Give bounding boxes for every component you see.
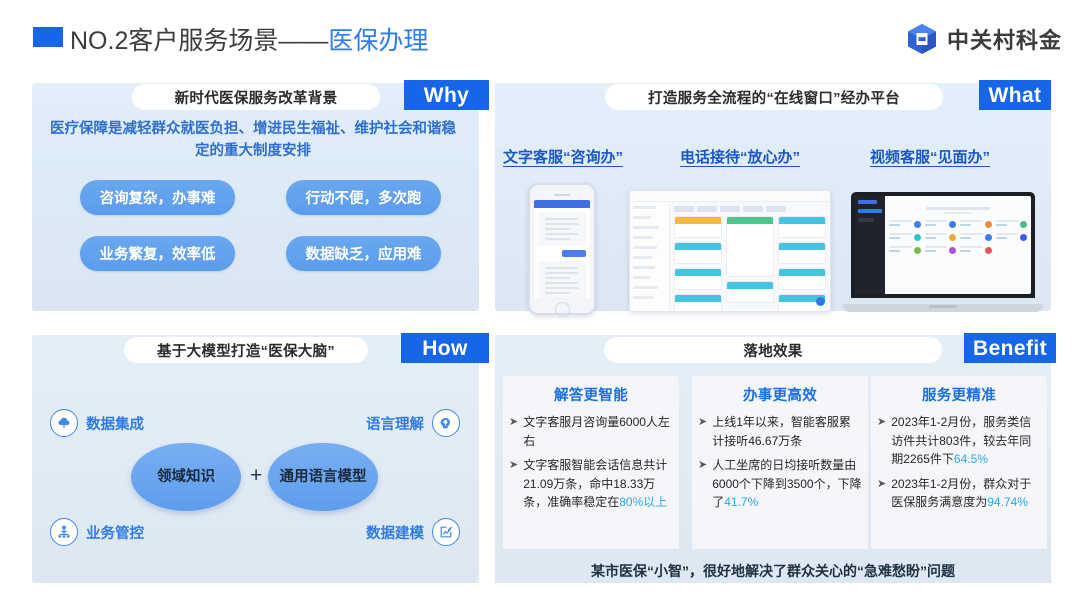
chart-edit-icon: [432, 518, 460, 546]
flow-node: [674, 294, 722, 312]
flow-node: [674, 268, 722, 290]
laptop-trackpad-notch: [929, 305, 957, 308]
why-capsule-1: 咨询复杂，办事难: [80, 180, 235, 215]
bullet-text: 文字客服月咨询量6000人左右: [523, 413, 673, 450]
dashboard-body: [630, 202, 830, 312]
flow-node: [726, 216, 774, 277]
laptop-sidebar: [855, 196, 885, 294]
why-lead-text: 医疗保障是减轻群众就医负担、增进民生福祉、维护社会和谐稳定的重大制度安排: [48, 118, 458, 162]
phone-message-in-2: [538, 261, 586, 298]
phone-speaker-icon: [554, 194, 570, 196]
brand-name: 中关村科金: [947, 23, 1062, 55]
why-capsule-3: 业务繁复，效率低: [80, 236, 235, 271]
bullet-arrow-icon: ➤: [509, 413, 518, 450]
slide-root: NO.2客户服务场景——医保办理 中关村科金 新时代医保服务改革背景 Why 医…: [0, 0, 1080, 608]
laptop-portal-mockup: [843, 192, 1043, 312]
how-node-data-modeling: 数据建模: [366, 518, 460, 546]
page-title-main: NO.2客户服务场景——: [70, 27, 328, 55]
cube-logo-icon: [905, 22, 939, 56]
benefit-bullet: ➤2023年1-2月份，群众对于医保服务满意度为94.74%: [877, 475, 1041, 512]
phone-message-in-1: [538, 212, 586, 246]
brand-logo: 中关村科金: [905, 22, 1062, 56]
bullet-highlight-value: 94.74%: [987, 495, 1028, 509]
what-link-text-service[interactable]: 文字客服“咨询办”: [503, 146, 623, 167]
phone-message-out: [562, 250, 586, 257]
dashboard-canvas: [670, 202, 830, 312]
benefit-bullet: ➤人工坐席的日均接听数量由6000个下降到3500个，下降了41.7%: [698, 456, 862, 512]
benefit-card-title: 办事更高效: [698, 384, 862, 405]
how-pill-heading: 基于大模型打造“医保大脑”: [124, 337, 368, 363]
bullet-text-run: 上线1年以来，智能客服累计接听46.67万条: [712, 415, 851, 448]
bullet-arrow-icon: ➤: [877, 475, 886, 512]
why-badge: Why: [404, 80, 489, 110]
flow-node: [674, 216, 722, 238]
org-chart-icon: [50, 518, 78, 546]
bullet-text: 2023年1-2月份，服务类信访件共计803件，较去年同期2265件下64.5%: [891, 413, 1041, 469]
bullet-text-run: 文字客服月咨询量6000人左右: [523, 415, 670, 448]
title-marker: [33, 27, 63, 47]
bullet-text: 上线1年以来，智能客服累计接听46.67万条: [712, 413, 862, 450]
brain-head-icon: [432, 409, 460, 437]
benefit-bullet: ➤上线1年以来，智能客服累计接听46.67万条: [698, 413, 862, 450]
how-ellipse-line-1: 通用语言: [280, 468, 338, 486]
page-title: NO.2客户服务场景——医保办理: [70, 21, 428, 57]
flow-node: [778, 242, 826, 264]
flow-node: [674, 242, 722, 264]
how-ellipse-line-2: 模型: [338, 468, 367, 486]
dashboard-sidebar: [630, 202, 670, 312]
phone-home-button-icon: [555, 302, 570, 317]
phone-chat-mockup: [528, 183, 596, 315]
benefit-card-bullets: ➤上线1年以来，智能客服累计接听46.67万条➤人工坐席的日均接听数量由6000…: [698, 413, 862, 512]
how-node-label: 语言理解: [366, 413, 424, 434]
why-capsule-2: 行动不便，多次跑: [286, 180, 441, 215]
benefit-card-bullets: ➤2023年1-2月份，服务类信访件共计803件，较去年同期2265件下64.5…: [877, 413, 1041, 512]
laptop-screen: [851, 192, 1035, 298]
bullet-arrow-icon: ➤: [509, 456, 518, 512]
benefit-card-2: 办事更高效 ➤上线1年以来，智能客服累计接听46.67万条➤人工坐席的日均接听数…: [692, 376, 868, 549]
benefit-card-1: 解答更智能 ➤文字客服月咨询量6000人左右➤文字客服智能会话信息共计21.09…: [503, 376, 679, 549]
benefit-card-3: 服务更精准 ➤2023年1-2月份，服务类信访件共计803件，较去年同期2265…: [871, 376, 1047, 549]
benefit-card-bullets: ➤文字客服月咨询量6000人左右➤文字客服智能会话信息共计21.09万条，命中1…: [509, 413, 673, 512]
benefit-bullet: ➤文字客服月咨询量6000人左右: [509, 413, 673, 450]
benefit-pill-heading: 落地效果: [604, 337, 942, 363]
bullet-arrow-icon: ➤: [698, 456, 707, 512]
benefit-card-title: 服务更精准: [877, 384, 1041, 405]
how-node-data-integration: 数据集成: [50, 409, 144, 437]
why-capsule-4: 数据缺乏，应用难: [286, 236, 441, 271]
bullet-highlight-value: 64.5%: [954, 452, 988, 466]
how-node-language-understanding: 语言理解: [366, 409, 460, 437]
benefit-bullet: ➤文字客服智能会话信息共计21.09万条，命中18.33万条，准确率稳定在80%…: [509, 456, 673, 512]
benefit-card-title: 解答更智能: [509, 384, 673, 405]
phone-screen: [534, 200, 590, 298]
how-node-business-control: 业务管控: [50, 518, 144, 546]
bullet-text: 文字客服智能会话信息共计21.09万条，命中18.33万条，准确率稳定在80%以…: [523, 456, 673, 512]
bullet-arrow-icon: ➤: [877, 413, 886, 469]
flow-node: [778, 268, 826, 290]
laptop-main: [885, 196, 1031, 294]
benefit-summary-bar: 某市医保“小智”，很好地解决了群众关心的“急难愁盼”问题: [495, 558, 1051, 583]
how-node-label: 数据建模: [366, 522, 424, 543]
flow-node: [778, 216, 826, 238]
bullet-arrow-icon: ➤: [698, 413, 707, 450]
how-ellipse-domain-knowledge: 领域知识: [131, 443, 241, 511]
dashboard-topbar: [630, 191, 830, 202]
what-link-phone-service[interactable]: 电话接待“放心办”: [680, 146, 800, 167]
bullet-text: 2023年1-2月份，群众对于医保服务满意度为94.74%: [891, 475, 1041, 512]
flow-node: [726, 281, 774, 303]
phone-appbar: [534, 200, 590, 208]
dashboard-help-fab-icon: [816, 297, 825, 306]
laptop-screen-content: [855, 196, 1031, 294]
bullet-highlight-value: 41.7%: [724, 495, 758, 509]
cloud-upload-icon: [50, 409, 78, 437]
dashboard-mockup: [629, 190, 831, 312]
what-link-video-service[interactable]: 视频客服“见面办”: [870, 146, 990, 167]
how-ellipse-general-language-model: 通用语言 模型: [268, 443, 378, 511]
slide-header: NO.2客户服务场景——医保办理 中关村科金: [0, 0, 1080, 70]
benefit-bullet: ➤2023年1-2月份，服务类信访件共计803件，较去年同期2265件下64.5…: [877, 413, 1041, 469]
what-pill-heading: 打造服务全流程的“在线窗口”经办平台: [605, 84, 943, 110]
how-node-label: 业务管控: [86, 522, 144, 543]
why-pill-heading: 新时代医保服务改革背景: [132, 84, 380, 110]
page-title-accent: 医保办理: [328, 27, 428, 55]
bullet-text: 人工坐席的日均接听数量由6000个下降到3500个，下降了41.7%: [712, 456, 862, 512]
dashboard-flow-columns: [674, 216, 826, 312]
how-plus-sign: +: [250, 464, 262, 488]
bullet-highlight-value: 80%以上: [619, 495, 667, 509]
what-badge: What: [979, 80, 1051, 110]
benefit-badge: Benefit: [964, 333, 1056, 363]
how-node-label: 数据集成: [86, 413, 144, 434]
how-badge: How: [401, 333, 489, 363]
dashboard-toolbar: [674, 206, 826, 212]
laptop-service-grid: [889, 220, 1027, 254]
